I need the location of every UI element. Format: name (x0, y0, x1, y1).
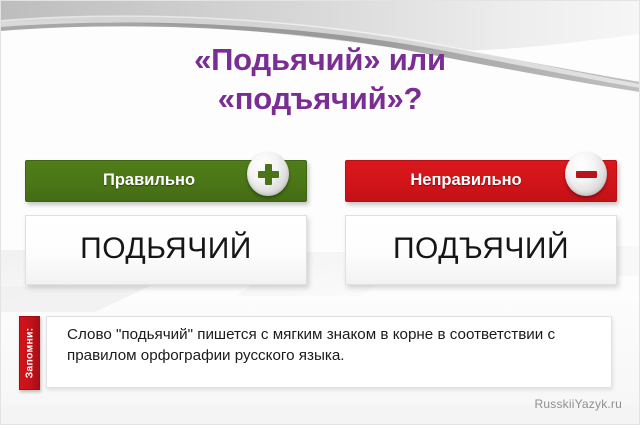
remember-tab: Запомни: (19, 316, 40, 390)
incorrect-answer-word: ПОДЪЯЧИЙ (393, 234, 569, 264)
page-title: «Подьячий» или «подъячий»? (0, 40, 640, 118)
minus-glyph (576, 171, 597, 178)
correct-answer-box[interactable]: ПОДЬЯЧИЙ (25, 215, 307, 285)
incorrect-banner-label: Неправильно (410, 171, 551, 190)
plus-circle-icon (247, 152, 289, 196)
title-line-2: «подъячий»? (0, 79, 640, 118)
explanation-text: Слово "подьячий" пишется с мягким знаком… (67, 326, 555, 364)
correct-answer-word: ПОДЬЯЧИЙ (80, 234, 252, 264)
correct-banner-label: Правильно (103, 171, 229, 190)
plus-glyph (258, 164, 279, 185)
remember-box: Слово "подьячий" пишется с мягким знаком… (46, 316, 612, 388)
minus-circle-icon (565, 152, 607, 196)
title-line-1: «Подьячий» или (0, 40, 640, 79)
site-watermark: RusskiiYazyk.ru (535, 397, 622, 411)
remember-tab-label: Запомни: (24, 328, 36, 379)
spelling-card: «Подьячий» или «подъячий»? Правильно Неп… (0, 0, 640, 425)
incorrect-answer-box[interactable]: ПОДЪЯЧИЙ (345, 215, 617, 285)
